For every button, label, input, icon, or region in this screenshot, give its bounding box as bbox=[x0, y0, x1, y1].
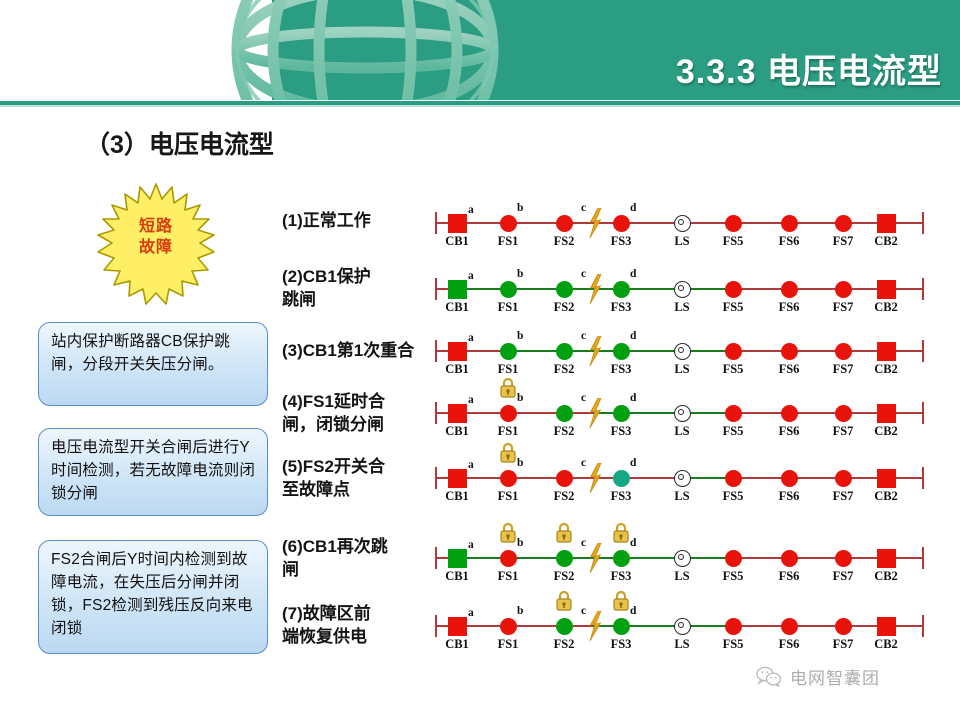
wire-segment bbox=[789, 288, 843, 290]
device-label-cb2: CB2 bbox=[869, 300, 903, 315]
page-header: 3.3.3 电压电流型 bbox=[0, 0, 960, 108]
lock-icon-fs2 bbox=[554, 589, 574, 613]
wire-segment bbox=[682, 477, 733, 479]
bus-bar-left bbox=[435, 467, 437, 489]
device-node-fs2 bbox=[556, 343, 573, 360]
wire-segment bbox=[843, 625, 886, 627]
callout-box-3: FS2合闸后Y时间内检测到故障电流，在失压后分闸并闭锁，FS2检测到残压反向来电… bbox=[38, 540, 268, 654]
device-label-ls: LS bbox=[665, 489, 699, 504]
wire-segment bbox=[508, 557, 593, 559]
point-label-a: a bbox=[468, 459, 474, 471]
point-label-d: d bbox=[630, 268, 636, 280]
device-node-fs6 bbox=[781, 470, 798, 487]
device-node-fs1 bbox=[500, 550, 517, 567]
device-label-fs2: FS2 bbox=[547, 362, 581, 377]
wire-segment bbox=[886, 625, 923, 627]
device-label-ls: LS bbox=[665, 234, 699, 249]
device-label-fs1: FS1 bbox=[491, 569, 525, 584]
point-label-c: c bbox=[581, 330, 586, 342]
bus-bar-right bbox=[922, 547, 924, 569]
device-label-fs5: FS5 bbox=[716, 424, 750, 439]
lock-icon-fs3 bbox=[611, 521, 631, 545]
wire-segment bbox=[886, 222, 923, 224]
device-node-cb1 bbox=[448, 549, 467, 568]
point-label-c: c bbox=[581, 392, 586, 404]
wire-segment bbox=[682, 412, 733, 414]
device-label-fs2: FS2 bbox=[547, 637, 581, 652]
device-node-ls bbox=[674, 343, 691, 360]
wire-segment bbox=[457, 288, 508, 290]
device-node-fs6 bbox=[781, 618, 798, 635]
device-label-cb2: CB2 bbox=[869, 569, 903, 584]
device-label-fs3: FS3 bbox=[604, 300, 638, 315]
device-node-fs3 bbox=[613, 405, 630, 422]
device-node-cb1 bbox=[448, 214, 467, 233]
wire-segment bbox=[789, 625, 843, 627]
fault-bolt-icon bbox=[587, 543, 603, 573]
device-node-cb1 bbox=[448, 404, 467, 423]
point-label-c: c bbox=[581, 202, 586, 214]
wire-segment bbox=[789, 412, 843, 414]
device-label-fs2: FS2 bbox=[547, 424, 581, 439]
wire-segment bbox=[733, 477, 789, 479]
wire-segment bbox=[508, 412, 593, 414]
device-node-fs6 bbox=[781, 343, 798, 360]
point-label-c: c bbox=[581, 537, 586, 549]
device-node-ls bbox=[674, 618, 691, 635]
device-node-cb2 bbox=[877, 469, 896, 488]
device-node-fs1 bbox=[500, 618, 517, 635]
wire-segment bbox=[789, 350, 843, 352]
device-label-fs7: FS7 bbox=[826, 300, 860, 315]
device-label-cb1: CB1 bbox=[440, 234, 474, 249]
bus-bar-right bbox=[922, 402, 924, 424]
wire-segment bbox=[733, 222, 789, 224]
point-label-b: b bbox=[517, 605, 523, 617]
device-node-fs3 bbox=[613, 215, 630, 232]
device-label-ls: LS bbox=[665, 362, 699, 377]
point-label-d: d bbox=[630, 605, 636, 617]
lock-icon-fs3 bbox=[611, 589, 631, 613]
wire-segment bbox=[621, 288, 682, 290]
callout-box-1: 站内保护断路器CB保护跳闸，分段开关失压分闸。 bbox=[38, 322, 268, 406]
point-label-c: c bbox=[581, 268, 586, 280]
device-label-ls: LS bbox=[665, 637, 699, 652]
wire-segment bbox=[457, 477, 508, 479]
device-label-fs3: FS3 bbox=[604, 234, 638, 249]
device-node-fs3 bbox=[613, 343, 630, 360]
device-label-fs5: FS5 bbox=[716, 362, 750, 377]
device-node-cb2 bbox=[877, 549, 896, 568]
wire-segment bbox=[843, 288, 886, 290]
device-node-ls bbox=[674, 405, 691, 422]
device-label-fs5: FS5 bbox=[716, 489, 750, 504]
wire-segment bbox=[457, 412, 508, 414]
device-label-fs6: FS6 bbox=[772, 362, 806, 377]
device-label-fs2: FS2 bbox=[547, 489, 581, 504]
device-label-fs1: FS1 bbox=[491, 489, 525, 504]
device-node-ls bbox=[674, 215, 691, 232]
fault-bolt-icon bbox=[587, 208, 603, 238]
wire-segment bbox=[886, 350, 923, 352]
fault-bolt-icon bbox=[587, 398, 603, 428]
wire-segment bbox=[789, 477, 843, 479]
fault-bolt-icon bbox=[587, 463, 603, 493]
wire-segment bbox=[508, 477, 593, 479]
wire-segment bbox=[593, 557, 621, 559]
device-node-fs5 bbox=[725, 343, 742, 360]
row-label-row-5: (5)FS2开关合 至故障点 bbox=[282, 455, 385, 501]
device-node-ls bbox=[674, 470, 691, 487]
fault-starburst: 短路 故障 bbox=[94, 182, 218, 308]
device-label-fs3: FS3 bbox=[604, 489, 638, 504]
wire-segment bbox=[843, 412, 886, 414]
wire-segment bbox=[621, 625, 682, 627]
device-node-fs7 bbox=[835, 405, 852, 422]
device-label-cb1: CB1 bbox=[440, 489, 474, 504]
page-title: 3.3.3 电压电流型 bbox=[676, 44, 942, 93]
device-node-ls bbox=[674, 281, 691, 298]
wire-segment bbox=[789, 557, 843, 559]
wire-segment bbox=[843, 477, 886, 479]
wire-segment bbox=[593, 222, 621, 224]
header-divider-light bbox=[0, 105, 960, 107]
bus-bar-left bbox=[435, 547, 437, 569]
device-node-fs5 bbox=[725, 618, 742, 635]
device-node-fs7 bbox=[835, 550, 852, 567]
point-label-c: c bbox=[581, 605, 586, 617]
device-node-fs5 bbox=[725, 281, 742, 298]
wire-segment bbox=[843, 557, 886, 559]
row-label-row-1: (1)正常工作 bbox=[282, 209, 371, 232]
device-label-fs6: FS6 bbox=[772, 234, 806, 249]
point-label-b: b bbox=[517, 268, 523, 280]
callout-box-2: 电压电流型开关合闸后进行Y时间检测，若无故障电流则闭锁分闸 bbox=[38, 428, 268, 516]
device-node-cb1 bbox=[448, 342, 467, 361]
device-node-fs3 bbox=[613, 618, 630, 635]
device-label-fs5: FS5 bbox=[716, 569, 750, 584]
device-label-fs3: FS3 bbox=[604, 569, 638, 584]
bus-bar-left bbox=[435, 212, 437, 234]
device-node-fs6 bbox=[781, 281, 798, 298]
device-node-cb1 bbox=[448, 617, 467, 636]
wire-segment bbox=[733, 557, 789, 559]
wire-segment bbox=[733, 288, 789, 290]
wire-segment bbox=[508, 288, 593, 290]
device-label-fs6: FS6 bbox=[772, 300, 806, 315]
wire-segment bbox=[733, 625, 789, 627]
device-node-fs2 bbox=[556, 281, 573, 298]
device-node-fs6 bbox=[781, 215, 798, 232]
device-node-fs5 bbox=[725, 550, 742, 567]
device-node-cb2 bbox=[877, 404, 896, 423]
wire-segment bbox=[436, 222, 457, 224]
device-label-fs1: FS1 bbox=[491, 424, 525, 439]
device-node-fs2 bbox=[556, 470, 573, 487]
bus-bar-right bbox=[922, 340, 924, 362]
point-label-a: a bbox=[468, 270, 474, 282]
device-label-fs5: FS5 bbox=[716, 234, 750, 249]
wire-segment bbox=[436, 557, 457, 559]
wire-segment bbox=[682, 222, 733, 224]
device-node-cb1 bbox=[448, 469, 467, 488]
fault-bolt-icon bbox=[587, 336, 603, 366]
device-label-ls: LS bbox=[665, 424, 699, 439]
device-label-fs7: FS7 bbox=[826, 362, 860, 377]
device-label-fs3: FS3 bbox=[604, 637, 638, 652]
wire-segment bbox=[457, 350, 508, 352]
point-label-a: a bbox=[468, 394, 474, 406]
device-node-cb1 bbox=[448, 280, 467, 299]
device-label-fs7: FS7 bbox=[826, 569, 860, 584]
device-label-cb2: CB2 bbox=[869, 362, 903, 377]
device-node-fs2 bbox=[556, 618, 573, 635]
row-label-row-2: (2)CB1保护 跳闸 bbox=[282, 265, 371, 311]
starburst-line-2: 故障 bbox=[94, 237, 218, 258]
device-node-fs7 bbox=[835, 215, 852, 232]
device-label-fs5: FS5 bbox=[716, 637, 750, 652]
wire-segment bbox=[457, 625, 508, 627]
device-label-cb2: CB2 bbox=[869, 489, 903, 504]
fault-bolt-icon bbox=[587, 274, 603, 304]
wire-segment bbox=[682, 350, 733, 352]
device-node-fs7 bbox=[835, 281, 852, 298]
wire-segment bbox=[436, 350, 457, 352]
point-label-b: b bbox=[517, 392, 523, 404]
wire-segment bbox=[593, 477, 621, 479]
point-label-b: b bbox=[517, 537, 523, 549]
wire-segment bbox=[621, 350, 682, 352]
point-label-a: a bbox=[468, 204, 474, 216]
device-label-fs3: FS3 bbox=[604, 362, 638, 377]
wire-segment bbox=[436, 412, 457, 414]
wire-segment bbox=[621, 557, 682, 559]
point-label-a: a bbox=[468, 539, 474, 551]
device-label-fs6: FS6 bbox=[772, 637, 806, 652]
section-subtitle: （3）电压电流型 bbox=[85, 125, 274, 161]
device-label-cb1: CB1 bbox=[440, 300, 474, 315]
device-label-fs7: FS7 bbox=[826, 424, 860, 439]
device-label-fs1: FS1 bbox=[491, 234, 525, 249]
wire-segment bbox=[508, 222, 593, 224]
device-label-fs5: FS5 bbox=[716, 300, 750, 315]
wire-segment bbox=[886, 557, 923, 559]
wire-segment bbox=[593, 288, 621, 290]
device-node-cb2 bbox=[877, 214, 896, 233]
fault-bolt-icon bbox=[587, 611, 603, 641]
wire-segment bbox=[733, 412, 789, 414]
point-label-c: c bbox=[581, 457, 586, 469]
device-node-fs3 bbox=[613, 281, 630, 298]
device-label-fs1: FS1 bbox=[491, 300, 525, 315]
point-label-d: d bbox=[630, 202, 636, 214]
device-node-fs6 bbox=[781, 405, 798, 422]
wire-segment bbox=[886, 288, 923, 290]
device-label-cb1: CB1 bbox=[440, 424, 474, 439]
wire-segment bbox=[457, 222, 508, 224]
watermark: 电网智囊团 bbox=[756, 664, 880, 689]
device-label-cb1: CB1 bbox=[440, 637, 474, 652]
device-node-fs7 bbox=[835, 618, 852, 635]
bus-bar-right bbox=[922, 278, 924, 300]
starburst-line-1: 短路 bbox=[94, 216, 218, 237]
row-label-row-4: (4)FS1延时合 闸，闭锁分闸 bbox=[282, 390, 385, 436]
lock-icon-fs1 bbox=[498, 441, 518, 465]
device-node-fs5 bbox=[725, 405, 742, 422]
wire-segment bbox=[682, 288, 733, 290]
bus-bar-left bbox=[435, 402, 437, 424]
bus-bar-left bbox=[435, 615, 437, 637]
device-label-fs2: FS2 bbox=[547, 569, 581, 584]
wechat-icon bbox=[756, 666, 782, 688]
point-label-b: b bbox=[517, 457, 523, 469]
point-label-a: a bbox=[468, 332, 474, 344]
device-label-fs3: FS3 bbox=[604, 424, 638, 439]
wire-segment bbox=[436, 625, 457, 627]
globe-graphic bbox=[215, 0, 545, 108]
device-node-fs3 bbox=[613, 470, 630, 487]
device-label-fs6: FS6 bbox=[772, 489, 806, 504]
device-label-fs7: FS7 bbox=[826, 637, 860, 652]
device-node-fs1 bbox=[500, 215, 517, 232]
point-label-d: d bbox=[630, 330, 636, 342]
row-label-row-6: (6)CB1再次跳 闸 bbox=[282, 535, 388, 581]
wire-segment bbox=[621, 222, 682, 224]
device-node-fs1 bbox=[500, 343, 517, 360]
wire-segment bbox=[508, 350, 593, 352]
bus-bar-right bbox=[922, 212, 924, 234]
device-node-fs6 bbox=[781, 550, 798, 567]
wire-segment bbox=[593, 350, 621, 352]
lock-icon-fs1 bbox=[498, 376, 518, 400]
device-node-fs5 bbox=[725, 470, 742, 487]
starburst-label: 短路 故障 bbox=[94, 216, 218, 258]
wire-segment bbox=[508, 625, 593, 627]
device-node-fs1 bbox=[500, 470, 517, 487]
device-label-cb1: CB1 bbox=[440, 362, 474, 377]
device-node-fs1 bbox=[500, 405, 517, 422]
device-label-fs7: FS7 bbox=[826, 489, 860, 504]
wire-segment bbox=[593, 625, 621, 627]
wire-segment bbox=[886, 477, 923, 479]
wire-segment bbox=[733, 350, 789, 352]
device-label-fs2: FS2 bbox=[547, 234, 581, 249]
point-label-b: b bbox=[517, 330, 523, 342]
bus-bar-right bbox=[922, 467, 924, 489]
device-node-fs2 bbox=[556, 405, 573, 422]
point-label-b: b bbox=[517, 202, 523, 214]
wire-segment bbox=[436, 288, 457, 290]
lock-icon-fs1 bbox=[498, 521, 518, 545]
device-label-fs1: FS1 bbox=[491, 637, 525, 652]
device-label-ls: LS bbox=[665, 569, 699, 584]
point-label-d: d bbox=[630, 457, 636, 469]
device-label-cb2: CB2 bbox=[869, 424, 903, 439]
device-label-fs6: FS6 bbox=[772, 424, 806, 439]
wire-segment bbox=[843, 350, 886, 352]
row-label-row-7: (7)故障区前 端恢复供电 bbox=[282, 602, 371, 648]
wire-segment bbox=[593, 412, 621, 414]
wire-segment bbox=[682, 557, 733, 559]
point-label-d: d bbox=[630, 537, 636, 549]
lock-icon-fs2 bbox=[554, 521, 574, 545]
device-label-cb2: CB2 bbox=[869, 234, 903, 249]
device-label-cb2: CB2 bbox=[869, 637, 903, 652]
wire-segment bbox=[436, 477, 457, 479]
device-node-fs5 bbox=[725, 215, 742, 232]
device-label-fs7: FS7 bbox=[826, 234, 860, 249]
device-node-cb2 bbox=[877, 617, 896, 636]
device-label-fs2: FS2 bbox=[547, 300, 581, 315]
watermark-text: 电网智囊团 bbox=[790, 664, 880, 689]
bus-bar-left bbox=[435, 340, 437, 362]
device-node-fs3 bbox=[613, 550, 630, 567]
device-node-fs1 bbox=[500, 281, 517, 298]
device-node-cb2 bbox=[877, 342, 896, 361]
wire-segment bbox=[886, 412, 923, 414]
wire-segment bbox=[843, 222, 886, 224]
bus-bar-left bbox=[435, 278, 437, 300]
device-label-ls: LS bbox=[665, 300, 699, 315]
device-node-fs2 bbox=[556, 215, 573, 232]
device-node-fs7 bbox=[835, 470, 852, 487]
wire-segment bbox=[621, 412, 682, 414]
device-node-cb2 bbox=[877, 280, 896, 299]
bus-bar-right bbox=[922, 615, 924, 637]
point-label-a: a bbox=[468, 607, 474, 619]
device-label-fs6: FS6 bbox=[772, 569, 806, 584]
row-label-row-3: (3)CB1第1次重合 bbox=[282, 339, 414, 362]
device-label-fs1: FS1 bbox=[491, 362, 525, 377]
wire-segment bbox=[789, 222, 843, 224]
wire-segment bbox=[457, 557, 508, 559]
device-node-fs7 bbox=[835, 343, 852, 360]
wire-segment bbox=[682, 625, 733, 627]
device-node-ls bbox=[674, 550, 691, 567]
device-node-fs2 bbox=[556, 550, 573, 567]
wire-segment bbox=[621, 477, 682, 479]
device-label-cb1: CB1 bbox=[440, 569, 474, 584]
point-label-d: d bbox=[630, 392, 636, 404]
